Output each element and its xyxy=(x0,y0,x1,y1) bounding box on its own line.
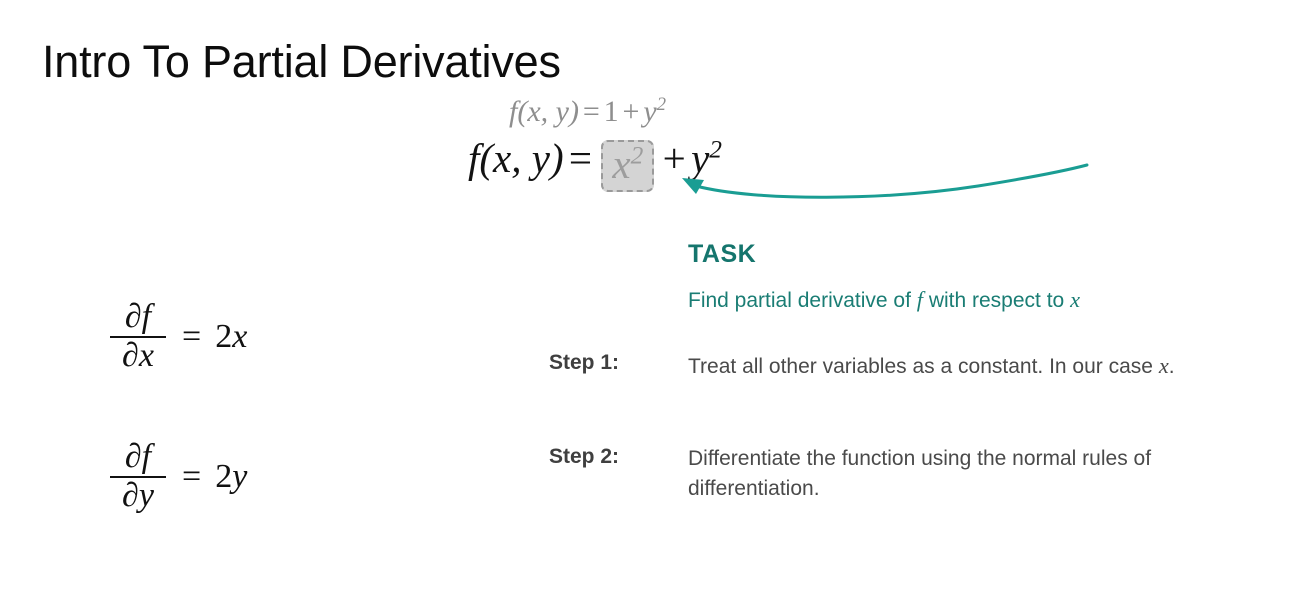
task-subtitle-part2: with respect to xyxy=(929,289,1064,312)
step-1-label: Step 1: xyxy=(549,350,688,375)
step-2-text: Differentiate the function using the nor… xyxy=(688,444,1248,504)
function-symbol: f xyxy=(142,298,151,335)
faded-equation-exponent: 2 xyxy=(657,94,666,115)
step-1-text-body: Treat all other variables as a constant.… xyxy=(688,355,1153,378)
step-1-period: . xyxy=(1169,355,1175,378)
main-equation-lhs: f(x, y)= xyxy=(468,134,597,182)
faded-equation-plus: + xyxy=(619,95,644,128)
derivative-x-equals: = xyxy=(182,318,201,356)
faded-equation-term: y xyxy=(643,95,656,128)
task-subtitle-variable: x xyxy=(1070,287,1080,312)
main-equation-rhs-exponent: 2 xyxy=(709,135,722,163)
task-subtitle-function: f xyxy=(917,287,923,312)
step-row: Step 1: Treat all other variables as a c… xyxy=(549,350,1249,382)
derivative-x-denominator: ∂x xyxy=(114,338,162,374)
step-1-text: Treat all other variables as a constant.… xyxy=(688,350,1248,382)
step-2-text-body: Differentiate the function using the nor… xyxy=(688,447,1151,500)
task-heading: TASK xyxy=(688,240,1258,269)
main-equation-rhs: +y2 xyxy=(657,134,722,182)
faded-equation-lhs: f(x, y) xyxy=(509,95,579,128)
partial-symbol: ∂ xyxy=(125,298,142,335)
task-subtitle-part1: Find partial derivative of xyxy=(688,289,911,312)
task-block: TASK Find partial derivative of f with r… xyxy=(688,240,1258,313)
main-equation: f(x, y)=x2+y2 xyxy=(468,134,722,186)
derivative-wrt-x: ∂f ∂x = 2x xyxy=(110,300,247,373)
derivative-x-variable: x xyxy=(139,337,154,374)
function-symbol: f xyxy=(142,438,151,475)
annotation-arrow-icon xyxy=(668,150,1098,210)
derivative-y-denominator: ∂y xyxy=(114,478,162,514)
faded-equation-constant: 1 xyxy=(604,95,619,128)
derivative-y-fraction: ∂f ∂y xyxy=(110,440,166,513)
highlighted-term-box[interactable]: x2 xyxy=(601,140,654,192)
steps-list: Step 1: Treat all other variables as a c… xyxy=(549,350,1249,565)
derivative-x-coefficient: 2 xyxy=(215,318,232,355)
main-equation-plus: + xyxy=(657,135,691,181)
derivative-y-result-variable: y xyxy=(232,458,247,495)
derivative-x-result-variable: x xyxy=(232,318,247,355)
highlighted-term-exponent: 2 xyxy=(631,141,644,169)
derivative-y-equals: = xyxy=(182,458,201,496)
partial-symbol: ∂ xyxy=(125,438,142,475)
derivative-x-numerator: ∂f xyxy=(117,300,159,336)
faded-equation-equals: = xyxy=(579,95,604,128)
derivative-y-coefficient: 2 xyxy=(215,458,232,495)
partial-symbol: ∂ xyxy=(122,477,139,514)
slide-canvas: Intro To Partial Derivatives f(x, y)=1+y… xyxy=(0,0,1303,611)
derivative-wrt-y: ∂f ∂y = 2y xyxy=(110,440,247,513)
faded-equation: f(x, y)=1+y2 xyxy=(509,95,666,129)
derivative-y-numerator: ∂f xyxy=(117,440,159,476)
step-row: Step 2: Differentiate the function using… xyxy=(549,444,1249,504)
step-1-variable: x xyxy=(1159,353,1169,378)
derivative-y-result: 2y xyxy=(215,458,247,496)
main-equation-equals: = xyxy=(564,135,598,181)
main-equation-rhs-base: y xyxy=(691,135,709,181)
main-equation-fn: f(x, y) xyxy=(468,135,564,181)
derivative-x-fraction: ∂f ∂x xyxy=(110,300,166,373)
highlighted-term-base: x xyxy=(612,141,630,187)
derivative-x-result: 2x xyxy=(215,318,247,356)
page-title: Intro To Partial Derivatives xyxy=(42,36,561,88)
task-subtitle: Find partial derivative of f with respec… xyxy=(688,287,1258,313)
partial-symbol: ∂ xyxy=(122,337,139,374)
step-2-label: Step 2: xyxy=(549,444,688,469)
derivative-y-variable: y xyxy=(139,477,154,514)
